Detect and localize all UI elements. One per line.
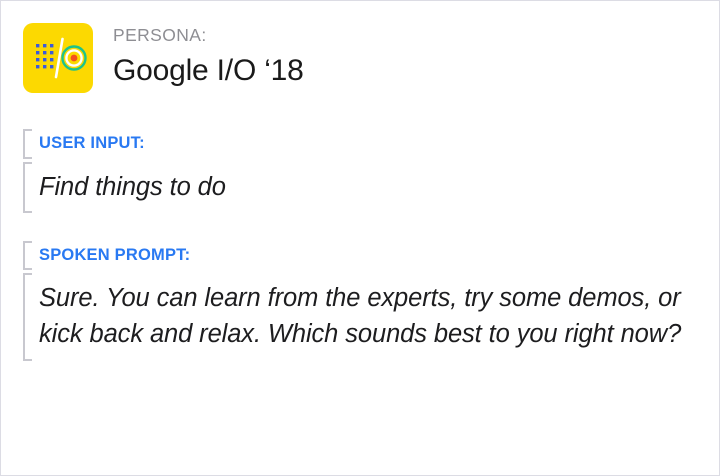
logo-dot-grid <box>36 44 53 68</box>
persona-header: PERSONA: Google I/O ‘18 <box>1 1 719 93</box>
spoken-prompt-label-block: SPOKEN PROMPT: <box>23 241 719 271</box>
user-input-body-block: Find things to do <box>23 162 719 213</box>
bracket-icon <box>23 241 32 271</box>
user-input-label-block: USER INPUT: <box>23 129 719 159</box>
bracket-icon <box>23 129 32 159</box>
spoken-prompt-body: Sure. You can learn from the experts, tr… <box>39 273 699 360</box>
spoken-prompt-label: SPOKEN PROMPT: <box>39 241 719 271</box>
persona-label: PERSONA: <box>113 25 304 46</box>
bracket-icon <box>23 162 32 213</box>
user-input-label: USER INPUT: <box>39 129 719 159</box>
google-io-logo <box>23 23 93 93</box>
persona-title: Google I/O ‘18 <box>113 52 304 90</box>
persona-card: PERSONA: Google I/O ‘18 USER INPUT: Find… <box>0 0 720 476</box>
bracket-icon <box>23 273 32 360</box>
logo-center-dot <box>71 55 78 62</box>
persona-text: PERSONA: Google I/O ‘18 <box>113 23 304 90</box>
user-input-body: Find things to do <box>39 162 679 213</box>
spoken-prompt-body-block: Sure. You can learn from the experts, tr… <box>23 273 719 360</box>
section-spoken-prompt: SPOKEN PROMPT: Sure. You can learn from … <box>23 241 719 361</box>
section-user-input: USER INPUT: Find things to do <box>23 129 719 213</box>
